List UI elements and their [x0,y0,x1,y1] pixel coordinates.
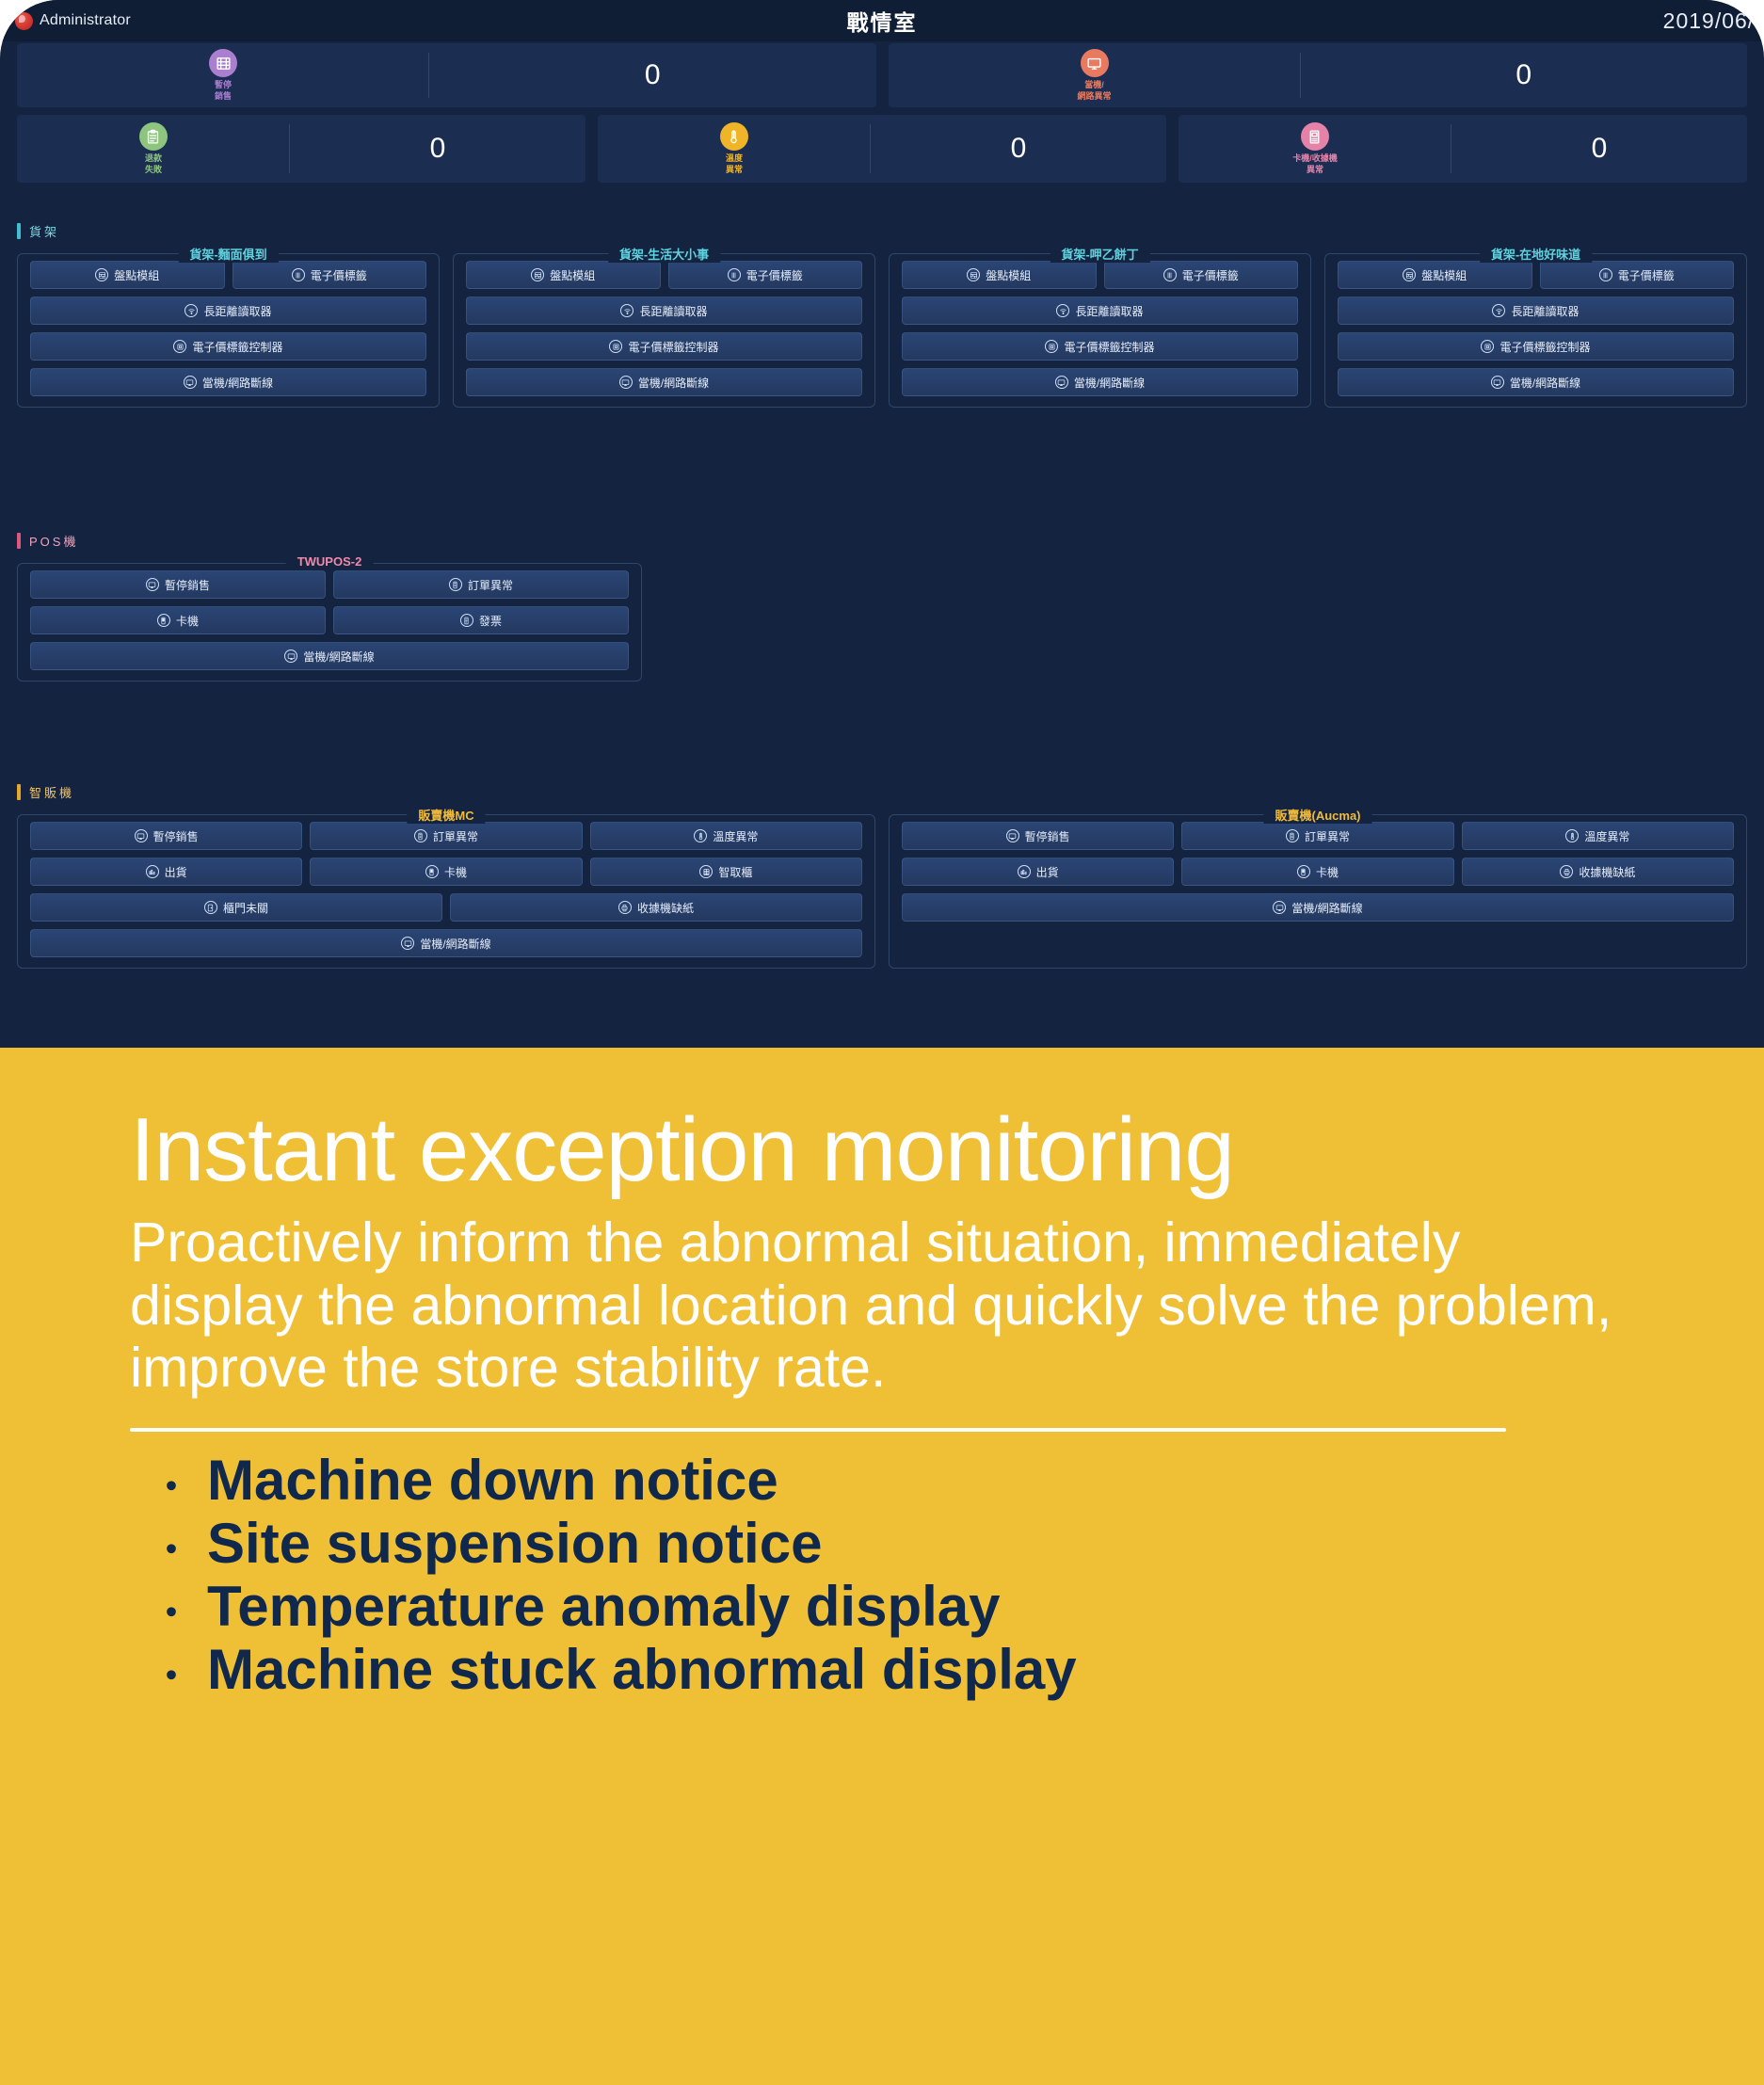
status-button-label: 收據機缺紙 [1579,864,1635,880]
device-panel: 貨架-生活大小事盤點模組電子價標籤長距離讀取器電子價標籤控制器當機/網路斷線 [453,244,875,408]
bullet-text: Site suspension notice [207,1512,822,1575]
dispense-icon [1018,865,1031,878]
wifi-icon [184,304,198,317]
status-button[interactable]: 卡機 [1181,858,1453,886]
dashboard-topbar: Administrator 戰情室 2019/06/2 [0,0,1764,41]
status-button[interactable]: 當機/網路斷線 [902,368,1298,396]
button-row: 當機/網路斷線 [30,929,862,957]
caption-bullet-list: ・Machine down notice・Site suspension not… [130,1449,1651,1702]
status-button-label: 電子價標籤 [1618,267,1675,283]
button-row: 長距離讀取器 [902,297,1298,325]
card-icon [1297,865,1310,878]
section-title: 智販機 [29,783,74,801]
kpi-identity: 溫度異常 [598,115,871,183]
button-row: 盤點模組電子價標籤 [902,261,1298,289]
status-button-label: 盤點模組 [986,267,1031,283]
section-accent-bar [17,223,21,239]
status-button-label: 盤點模組 [550,267,595,283]
inventory-icon [1403,268,1416,281]
status-button[interactable]: 當機/網路斷線 [466,368,862,396]
device-panel: 貨架-在地好味道盤點模組電子價標籤長距離讀取器電子價標籤控制器當機/網路斷線 [1324,244,1747,408]
button-row: 電子價標籤控制器 [466,332,862,361]
device-panel: 販賣機MC暫停銷售訂單異常溫度異常出貨卡機智取櫃櫃門未關收據機缺紙當機/網路斷線 [17,805,875,969]
caption-divider [130,1428,1506,1432]
status-button-label: 智取櫃 [718,864,752,880]
status-button-label: 溫度異常 [713,828,758,844]
price-tag-icon [1599,268,1612,281]
status-button[interactable]: 電子價標籤 [233,261,427,289]
status-button-label: 出貨 [165,864,187,880]
thermometer-icon [1565,829,1579,842]
inventory-icon [95,268,108,281]
status-button-label: 電子價標籤控制器 [1499,339,1590,355]
section-title: POS機 [29,532,78,550]
controller-icon [173,340,186,353]
status-button-label: 電子價標籤 [746,267,803,283]
kpi-label-line1: 暫停 [215,80,232,90]
status-button-label: 櫃門未關 [223,900,268,916]
panel-row: TWUPOS-2暫停銷售訂單異常卡機發票當機/網路斷線 [0,553,659,682]
status-button[interactable]: 盤點模組 [902,261,1097,289]
kpi-label-line1: 溫度 [726,153,743,164]
button-row: 暫停銷售訂單異常 [30,570,629,599]
button-row: 當機/網路斷線 [1338,368,1734,396]
thermometer-icon [720,122,748,151]
status-button[interactable]: 收據機缺紙 [1462,858,1734,886]
printer-icon [1560,865,1573,878]
status-button[interactable]: 暫停銷售 [30,570,326,599]
panel-title: 貨架-生活大小事 [608,245,720,263]
button-row: 當機/網路斷線 [466,368,862,396]
receipt-icon [460,614,473,627]
status-button-label: 電子價標籤 [311,267,367,283]
kpi-identity: 當機/網路異常 [889,43,1301,107]
kpi-value: 0 [429,43,876,107]
page-root: Administrator 戰情室 2019/06/2 暫停銷售0當機/網路異常… [0,0,1764,2085]
caption-bullet-item: ・Site suspension notice [130,1512,1651,1575]
status-button[interactable]: 當機/網路斷線 [30,368,426,396]
device-panel: 販賣機(Aucma)暫停銷售訂單異常溫度異常出貨卡機收據機缺紙當機/網路斷線 [889,805,1747,969]
section-accent-bar [17,533,21,549]
button-row: 卡機發票 [30,606,629,634]
kpi-cards: 暫停銷售0當機/網路異常0 退款失敗0溫度異常0卡機/收據機異常0 [17,43,1747,190]
status-button[interactable]: 當機/網路斷線 [902,893,1734,922]
caption-bullet-item: ・Machine stuck abnormal display [130,1638,1651,1701]
wifi-icon [1056,304,1069,317]
status-button[interactable]: 暫停銷售 [902,822,1174,850]
status-button[interactable]: 長距離讀取器 [902,297,1298,325]
order-icon [1286,829,1299,842]
status-button-label: 發票 [479,613,502,629]
status-button-label: 卡機 [1316,864,1339,880]
monitor-icon [184,376,197,389]
kpi-label-line2: 網路異常 [1077,91,1111,102]
status-button[interactable]: 發票 [333,606,629,634]
kpi-card[interactable]: 暫停銷售0 [17,43,876,107]
kpi-label-line1: 當機/ [1084,80,1104,90]
status-button[interactable]: 當機/網路斷線 [30,642,629,670]
kpi-value: 0 [871,115,1166,183]
status-button-label: 收據機缺紙 [637,900,694,916]
monitor-icon [146,578,159,591]
status-button-label: 電子價標籤控制器 [1064,339,1154,355]
status-button[interactable]: 櫃門未關 [30,893,442,922]
kpi-label-line2: 失敗 [145,165,162,175]
device-panel: TWUPOS-2暫停銷售訂單異常卡機發票當機/網路斷線 [17,553,642,682]
status-button[interactable]: 電子價標籤控制器 [30,332,426,361]
status-button-label: 長距離讀取器 [1075,303,1143,319]
section-accent-bar [17,784,21,800]
kpi-card[interactable]: 退款失敗0 [17,115,585,183]
printer-icon [618,901,632,914]
monitor-icon [135,829,148,842]
locker-icon [699,865,713,878]
monitor-icon [1081,49,1109,77]
button-row: 長距離讀取器 [466,297,862,325]
status-button[interactable]: 卡機 [310,858,582,886]
button-row: 盤點模組電子價標籤 [466,261,862,289]
status-button[interactable]: 長距離讀取器 [30,297,426,325]
status-button[interactable]: 當機/網路斷線 [1338,368,1734,396]
button-row: 櫃門未關收據機缺紙 [30,893,862,922]
status-button-label: 當機/網路斷線 [1074,375,1145,391]
dashboard-screenshot: Administrator 戰情室 2019/06/2 暫停銷售0當機/網路異常… [0,0,1764,1068]
kpi-label-line1: 卡機/收據機 [1292,153,1338,164]
section-header: 智販機 [0,783,1764,801]
panel-title: 貨架-在地好味道 [1480,245,1592,263]
page-title: 戰情室 [0,5,1764,37]
kpi-row-bottom: 退款失敗0溫度異常0卡機/收據機異常0 [17,115,1747,183]
caption-bullet-item: ・Temperature anomaly display [130,1575,1651,1638]
card-icon [425,865,439,878]
status-button-label: 卡機 [176,613,199,629]
kpi-card[interactable]: 當機/網路異常0 [889,43,1748,107]
door-icon [204,901,217,914]
status-button[interactable]: 出貨 [30,858,302,886]
inventory-icon [531,268,544,281]
status-button-label: 暫停銷售 [153,828,199,844]
kpi-row-top: 暫停銷售0當機/網路異常0 [17,43,1747,107]
status-button[interactable]: 盤點模組 [1338,261,1532,289]
panel-title: 販賣機(Aucma) [1263,806,1371,824]
status-button[interactable]: 電子價標籤控制器 [1338,332,1734,361]
controller-icon [1045,340,1058,353]
button-row: 暫停銷售訂單異常溫度異常 [30,822,862,850]
monitor-icon [619,376,633,389]
status-button[interactable]: 溫度異常 [590,822,862,850]
status-button-label: 當機/網路斷線 [1291,900,1362,916]
panel-title: 貨架-麵面俱到 [178,245,278,263]
bullet-marker: ・ [152,1532,190,1569]
button-row: 電子價標籤控制器 [1338,332,1734,361]
status-button-label: 卡機 [444,864,467,880]
price-tag-icon [1163,268,1177,281]
shelf-icon [209,49,237,77]
button-row: 電子價標籤控制器 [30,332,426,361]
button-row: 當機/網路斷線 [30,642,629,670]
panel-title: 貨架-呷乙餅丁 [1050,245,1149,263]
kpi-identity: 卡機/收據機異常 [1179,115,1451,183]
status-button[interactable]: 盤點模組 [466,261,661,289]
status-button-label: 電子價標籤控制器 [628,339,718,355]
device-panel: 貨架-呷乙餅丁盤點模組電子價標籤長距離讀取器電子價標籤控制器當機/網路斷線 [889,244,1311,408]
bullet-marker: ・ [152,1595,190,1632]
kpi-label-line1: 退款 [145,153,162,164]
status-button-label: 電子價標籤 [1182,267,1239,283]
dispense-icon [146,865,159,878]
status-button-label: 暫停銷售 [165,577,210,593]
section-header: POS機 [0,532,1764,550]
monitor-icon [401,937,414,950]
status-button[interactable]: 盤點模組 [30,261,225,289]
panel-title: 販賣機MC [407,806,485,824]
status-button-label: 盤點模組 [114,267,159,283]
wifi-icon [1492,304,1505,317]
panel-row: 販賣機MC暫停銷售訂單異常溫度異常出貨卡機智取櫃櫃門未關收據機缺紙當機/網路斷線… [0,805,1764,969]
section-header: 貨架 [0,222,1764,240]
status-button-label: 訂單異常 [468,577,513,593]
kpi-identity: 退款失敗 [17,115,290,183]
card-reader-icon [1301,122,1329,151]
status-button-label: 電子價標籤控制器 [192,339,282,355]
monitor-icon [1006,829,1019,842]
price-tag-icon [292,268,305,281]
status-button-label: 盤點模組 [1421,267,1467,283]
bullet-marker: ・ [152,1468,190,1506]
bullet-text: Temperature anomaly display [207,1575,1001,1638]
button-row: 長距離讀取器 [30,297,426,325]
status-button[interactable]: 電子價標籤控制器 [466,332,862,361]
kpi-value: 0 [1451,115,1747,183]
status-button-label: 訂單異常 [433,828,478,844]
status-button[interactable]: 智取櫃 [590,858,862,886]
kpi-card[interactable]: 卡機/收據機異常0 [1179,115,1747,183]
order-icon [449,578,462,591]
status-button[interactable]: 電子價標籤控制器 [902,332,1298,361]
controller-icon [609,340,622,353]
status-button[interactable]: 電子價標籤 [668,261,863,289]
button-row: 暫停銷售訂單異常溫度異常 [902,822,1734,850]
status-button[interactable]: 訂單異常 [1181,822,1453,850]
caption-title: Instant exception monitoring [130,1104,1651,1196]
status-button[interactable]: 收據機缺紙 [450,893,862,922]
clipboard-icon [139,122,168,151]
button-row: 長距離讀取器 [1338,297,1734,325]
monitor-icon [1273,901,1286,914]
panel-title: TWUPOS-2 [286,554,374,569]
status-button[interactable]: 當機/網路斷線 [30,929,862,957]
caption-panel: Instant exception monitoring Proactively… [0,1048,1764,2085]
monitor-icon [284,650,297,663]
status-button-label: 長距離讀取器 [1511,303,1579,319]
kpi-label-line2: 銷售 [215,91,232,102]
button-row: 當機/網路斷線 [902,893,1734,922]
button-row: 盤點模組電子價標籤 [30,261,426,289]
kpi-value: 0 [290,115,585,183]
status-button[interactable]: 電子價標籤 [1540,261,1735,289]
button-row: 盤點模組電子價標籤 [1338,261,1734,289]
price-tag-icon [728,268,741,281]
kpi-label-line2: 異常 [726,165,743,175]
kpi-value: 0 [1301,43,1748,107]
button-row: 出貨卡機智取櫃 [30,858,862,886]
status-button[interactable]: 暫停銷售 [30,822,302,850]
status-button-label: 長距離讀取器 [639,303,707,319]
kpi-identity: 暫停銷售 [17,43,429,107]
button-row: 當機/網路斷線 [30,368,426,396]
status-button[interactable]: 長距離讀取器 [1338,297,1734,325]
status-button-label: 溫度異常 [1584,828,1629,844]
status-button-label: 當機/網路斷線 [202,375,273,391]
status-button-label: 當機/網路斷線 [303,649,374,665]
section-1: 貨架貨架-麵面俱到盤點模組電子價標籤長距離讀取器電子價標籤控制器當機/網路斷線貨… [0,222,1764,408]
status-button-label: 暫停銷售 [1025,828,1070,844]
status-button-label: 訂單異常 [1305,828,1350,844]
monitor-icon [1491,376,1504,389]
status-button[interactable]: 溫度異常 [1462,822,1734,850]
status-button-label: 出貨 [1036,864,1059,880]
bullet-text: Machine down notice [207,1449,778,1512]
status-button-label: 當機/網路斷線 [638,375,709,391]
status-button-label: 當機/網路斷線 [420,936,490,952]
thermometer-icon [694,829,707,842]
section-2: POS機TWUPOS-2暫停銷售訂單異常卡機發票當機/網路斷線 [0,532,1764,682]
kpi-card[interactable]: 溫度異常0 [598,115,1166,183]
caption-body: Proactively inform the abnormal situatio… [130,1211,1645,1400]
button-row: 當機/網路斷線 [902,368,1298,396]
status-button-label: 當機/網路斷線 [1510,375,1580,391]
order-icon [414,829,427,842]
status-button-label: 長距離讀取器 [203,303,271,319]
bullet-marker: ・ [152,1658,190,1695]
section-title: 貨架 [29,222,59,240]
inventory-icon [967,268,980,281]
topbar-date: 2019/06/2 [1663,8,1764,34]
button-row: 出貨卡機收據機缺紙 [902,858,1734,886]
controller-icon [1481,340,1494,353]
status-button[interactable]: 訂單異常 [333,570,629,599]
section-3: 智販機販賣機MC暫停銷售訂單異常溫度異常出貨卡機智取櫃櫃門未關收據機缺紙當機/網… [0,783,1764,969]
status-button[interactable]: 訂單異常 [310,822,582,850]
monitor-icon [1055,376,1068,389]
status-button[interactable]: 出貨 [902,858,1174,886]
status-button[interactable]: 長距離讀取器 [466,297,862,325]
device-panel: 貨架-麵面俱到盤點模組電子價標籤長距離讀取器電子價標籤控制器當機/網路斷線 [17,244,440,408]
card-icon [157,614,170,627]
bullet-text: Machine stuck abnormal display [207,1638,1077,1701]
caption-bullet-item: ・Machine down notice [130,1449,1651,1512]
wifi-icon [620,304,633,317]
kpi-label-line2: 異常 [1307,165,1323,175]
status-button[interactable]: 卡機 [30,606,326,634]
button-row: 電子價標籤控制器 [902,332,1298,361]
panel-row: 貨架-麵面俱到盤點模組電子價標籤長距離讀取器電子價標籤控制器當機/網路斷線貨架-… [0,244,1764,408]
status-button[interactable]: 電子價標籤 [1104,261,1299,289]
